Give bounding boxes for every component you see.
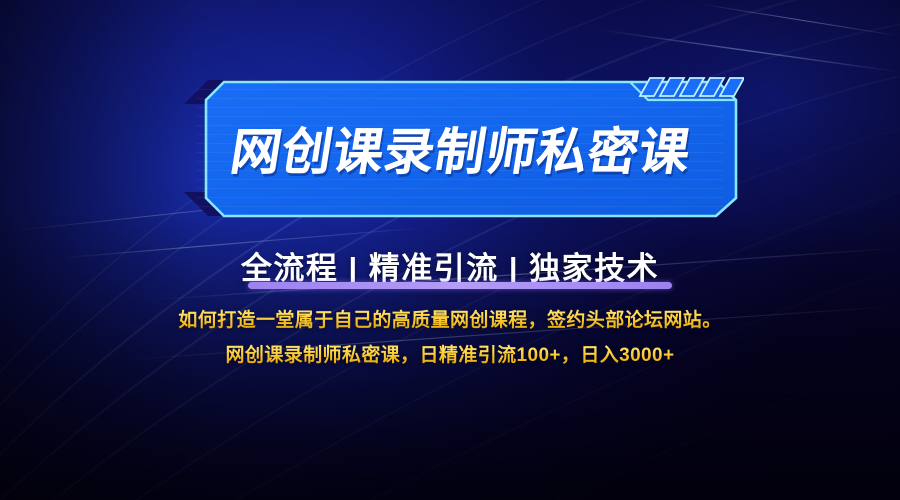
- diagonal-stripe-group: [640, 78, 744, 96]
- promo-poster: 网创课录制师私密课 全流程 | 精准引流 | 独家技术 如何打造一堂属于自己的高…: [0, 0, 900, 500]
- banner-title-label: 网创课录制师私密课: [226, 112, 696, 184]
- banner-title-text: 网创课录制师私密课: [178, 112, 744, 184]
- body-line-2: 网创课录制师私密课，日精准引流100+，日入3000+: [0, 340, 900, 367]
- subtitle-underline-bar: [248, 282, 672, 289]
- title-banner: 网创课录制师私密课: [178, 74, 744, 222]
- body-line-1: 如何打造一堂属于自己的高质量网创课程，签约头部论坛网站。: [0, 305, 900, 332]
